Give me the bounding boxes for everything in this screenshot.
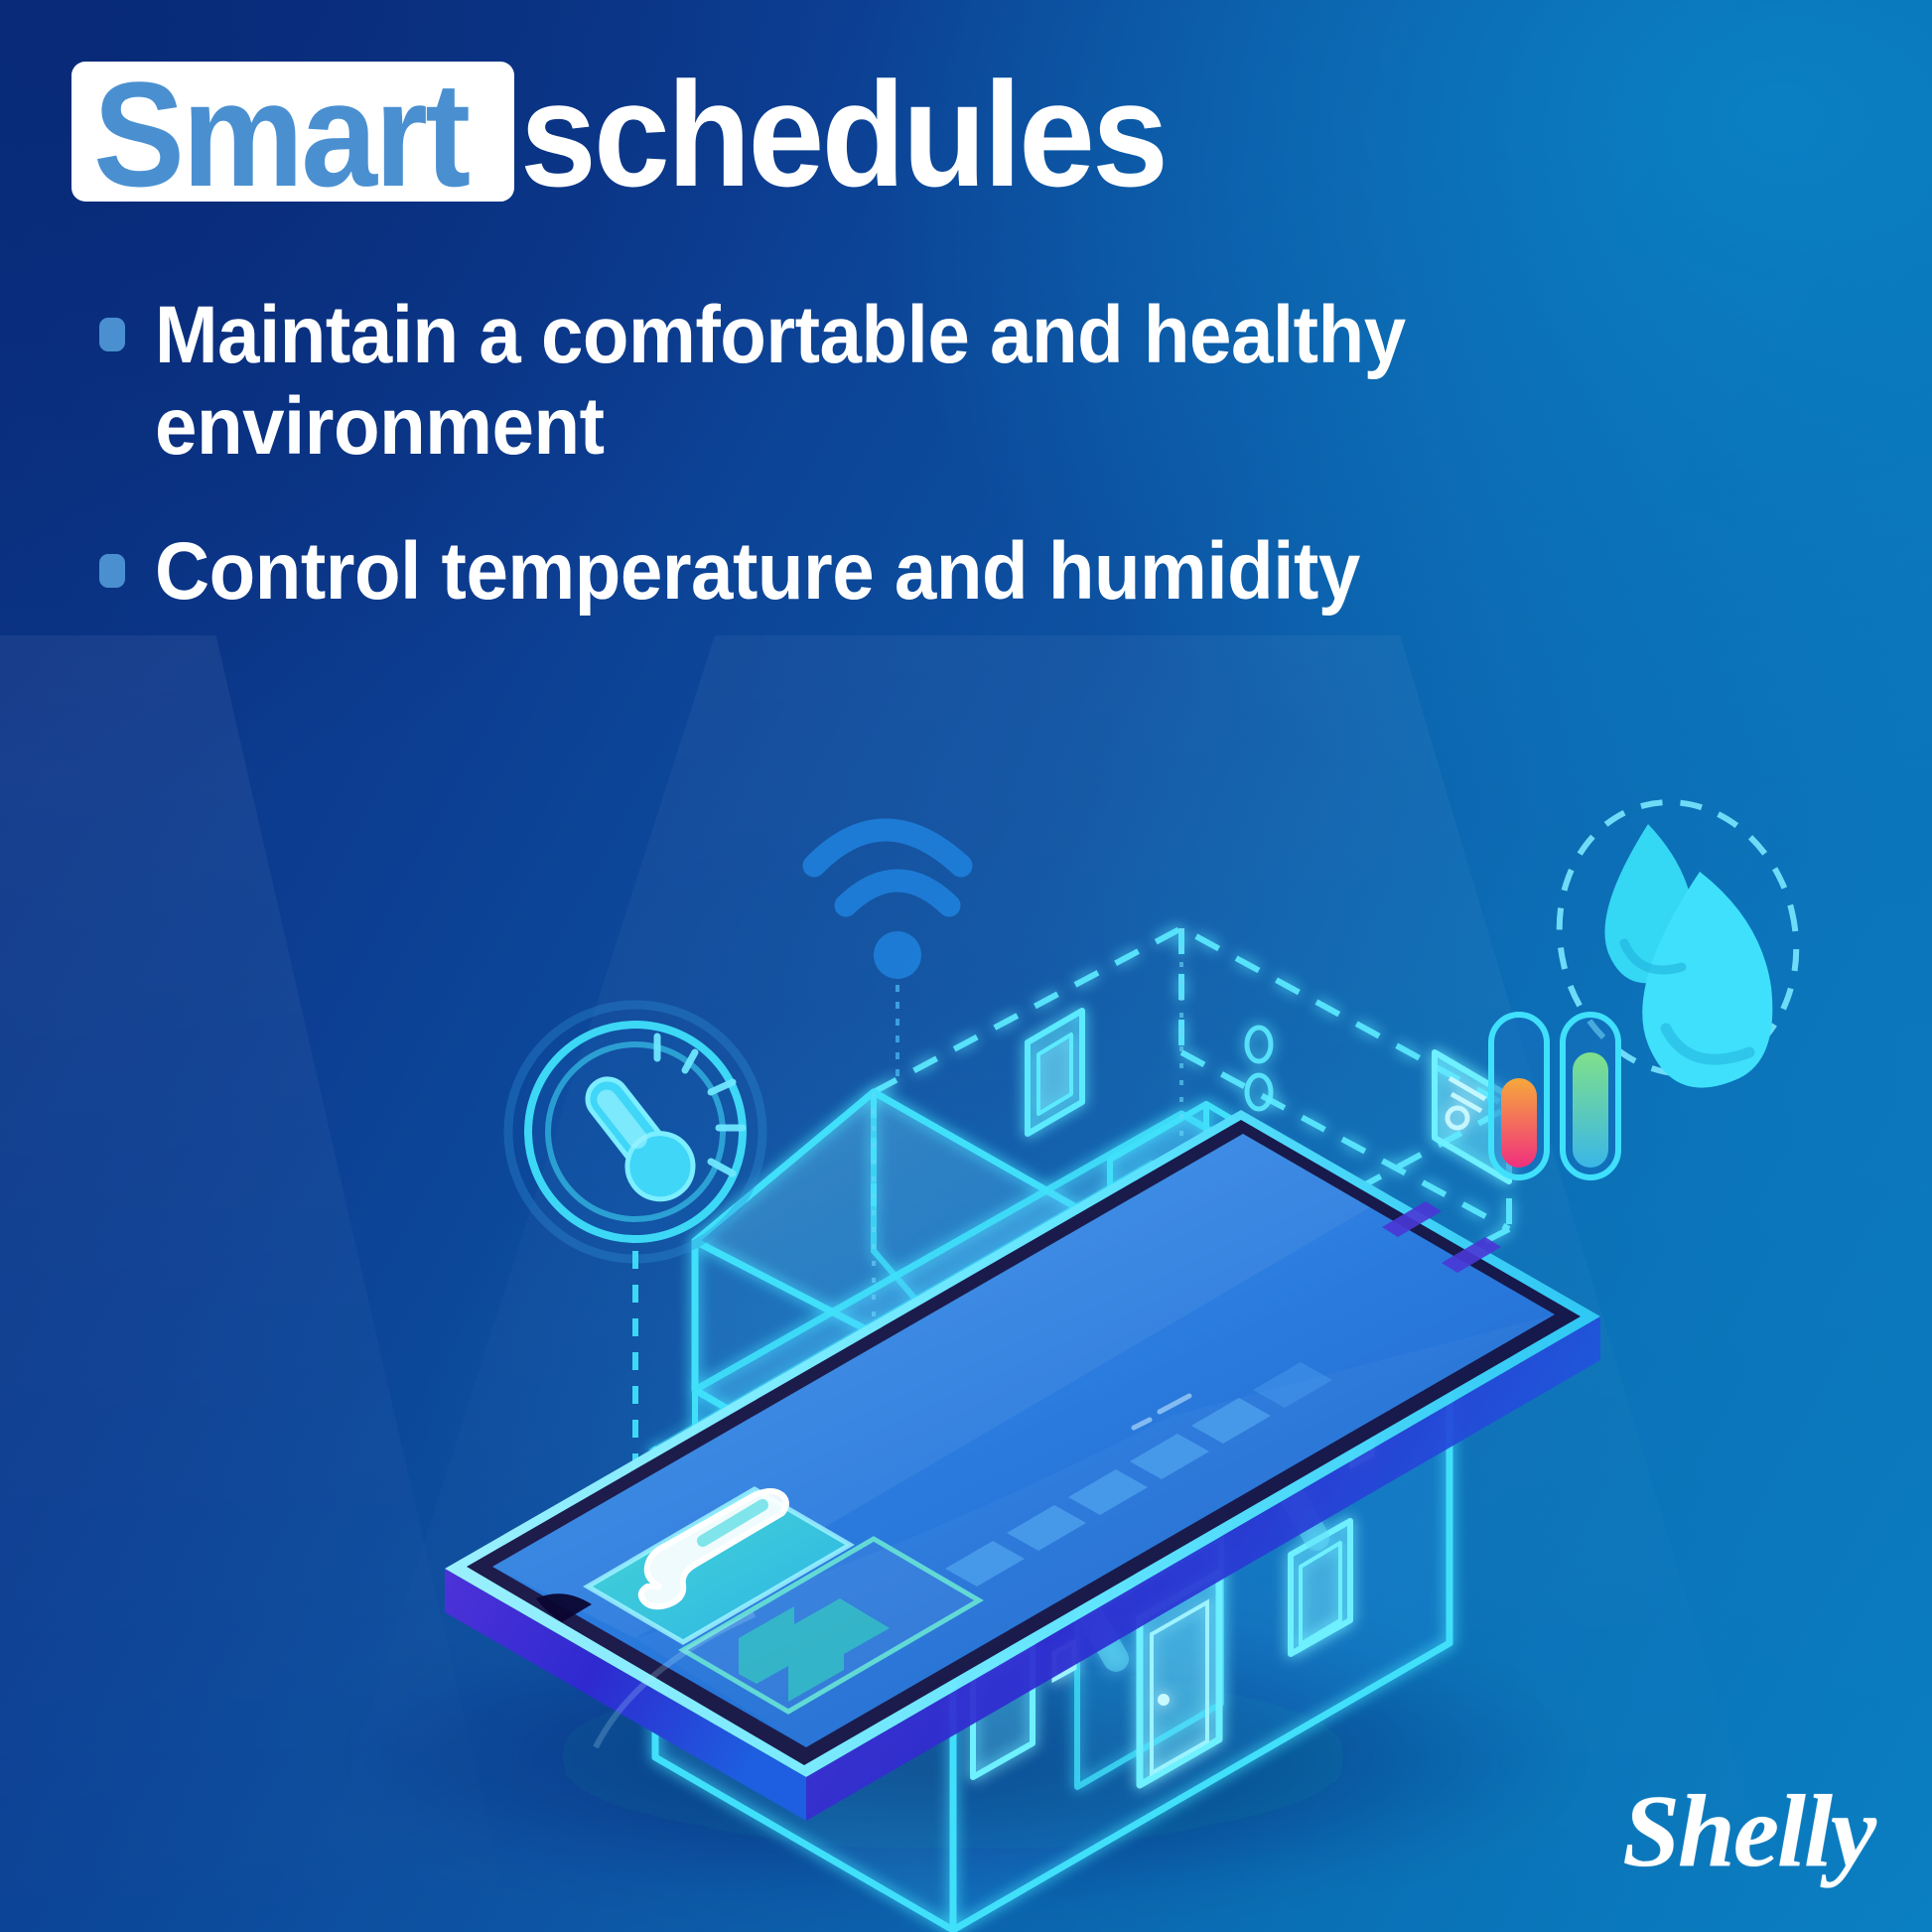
bullet-label: Maintain a comfortable and healthy envir… [155,290,1651,473]
smart-home-illustration [0,755,1932,1932]
list-item: Control temperature and humidity [99,526,1827,618]
title-highlight-badge: Smart [71,62,514,202]
list-item: Maintain a comfortable and healthy envir… [99,290,1827,473]
poster-canvas: Smart schedules Maintain a comfortable a… [0,0,1932,1932]
wifi-icon [814,830,961,979]
page-title: Smart schedules [71,62,1222,202]
brand-logo: Shelly [1622,1772,1874,1890]
feature-bullet-list: Maintain a comfortable and healthy envir… [99,290,1827,670]
sensor-gauges [1491,1015,1618,1177]
title-rest-word: schedules [520,62,1166,196]
house-attic-window [1028,1011,1082,1134]
bullet-marker-icon [99,554,125,588]
water-droplet-icon [1604,824,1772,1088]
illustration-stage [0,755,1932,1932]
humidity-gauge[interactable] [1563,1015,1618,1177]
title-highlight-word: Smart [93,73,468,196]
bullet-marker-icon [99,318,125,351]
bullet-label: Control temperature and humidity [155,526,1360,618]
temperature-gauge[interactable] [1491,1015,1547,1177]
